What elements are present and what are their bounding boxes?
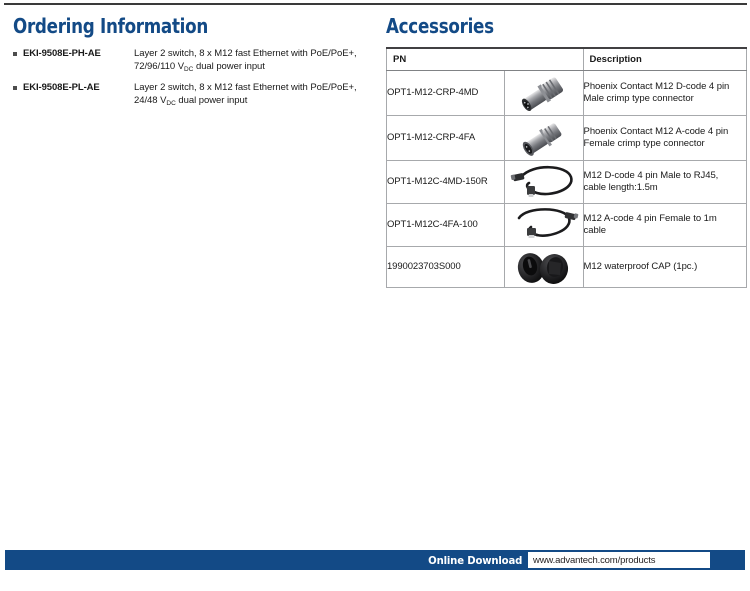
online-download-label: Online Download <box>428 554 522 567</box>
accessories-title: Accessories <box>386 14 723 38</box>
cell-part-number: OPT1-M12C-4MD-150R <box>387 161 505 204</box>
footer-url-box[interactable]: www.advantech.com/products <box>528 552 710 568</box>
ordering-description-line2-pre: 72/96/110 V <box>134 61 184 72</box>
description-line1: M12 D-code 4 pin Male to RJ45, <box>584 170 719 181</box>
footer-url-text[interactable]: www.advantech.com/products <box>533 555 655 566</box>
cell-product-image <box>505 161 583 204</box>
cell-product-image <box>505 247 583 288</box>
m12-female-cable-photo <box>507 204 581 246</box>
column-header-pn: PN <box>387 48 584 71</box>
ordering-description-line1: Layer 2 switch, 8 x M12 fast Ethernet wi… <box>134 82 357 93</box>
cell-product-image <box>505 71 583 116</box>
list-item: EKI-9508E-PH-AE Layer 2 switch, 8 x M12 … <box>13 47 373 74</box>
description-line2: Female crimp type connector <box>584 138 705 149</box>
ordering-information-title: Ordering Information <box>13 14 348 38</box>
m12-to-rj45-cable-photo <box>507 161 581 203</box>
cell-description: Phoenix Contact M12 A-code 4 pinFemale c… <box>583 116 746 161</box>
cell-description: M12 D-code 4 pin Male to RJ45,cable leng… <box>583 161 746 204</box>
table-header-row: PN Description <box>387 48 747 71</box>
list-item: EKI-9508E-PL-AE Layer 2 switch, 8 x M12 … <box>13 81 373 108</box>
table-row: OPT1-M12-CRP-4FA <box>387 116 747 161</box>
table-row: 1990023703S000 <box>387 247 747 288</box>
description-line2: cable length:1.5m <box>584 182 658 193</box>
ordering-description: Layer 2 switch, 8 x M12 fast Ethernet wi… <box>134 81 373 108</box>
description-line2: cable <box>584 225 606 236</box>
cell-description: M12 A-code 4 pin Female to 1mcable <box>583 204 746 247</box>
cell-product-image <box>505 116 583 161</box>
ordering-description-line2-pre: 24/48 V <box>134 95 166 106</box>
footer-bar: Online Download www.advantech.com/produc… <box>5 550 745 570</box>
cell-part-number: OPT1-M12-CRP-4FA <box>387 116 505 161</box>
ordering-list: EKI-9508E-PH-AE Layer 2 switch, 8 x M12 … <box>13 47 373 108</box>
ordering-part-number: EKI-9508E-PH-AE <box>23 47 134 60</box>
ordering-description-line2-post: dual power input <box>193 61 265 72</box>
square-bullet-icon <box>13 52 17 56</box>
cell-description: Phoenix Contact M12 D-code 4 pinMale cri… <box>583 71 746 116</box>
column-header-description: Description <box>583 48 746 71</box>
top-rule-divider <box>4 3 747 5</box>
m12-male-connector-photo <box>509 71 579 115</box>
cell-description: M12 waterproof CAP (1pc.) <box>583 247 746 288</box>
description-line2: Male crimp type connector <box>584 93 694 104</box>
description-line1: M12 waterproof CAP (1pc.) <box>584 261 698 272</box>
cell-product-image <box>505 204 583 247</box>
ordering-part-number: EKI-9508E-PL-AE <box>23 81 134 94</box>
description-line1: M12 A-code 4 pin Female to 1m <box>584 213 717 224</box>
ordering-description-subscript: DC <box>166 100 175 107</box>
ordering-description-line2-post: dual power input <box>176 95 248 106</box>
cell-part-number: 1990023703S000 <box>387 247 505 288</box>
cell-part-number: OPT1-M12C-4FA-100 <box>387 204 505 247</box>
square-bullet-icon <box>13 86 17 90</box>
ordering-description-line1: Layer 2 switch, 8 x M12 fast Ethernet wi… <box>134 48 357 59</box>
ordering-description: Layer 2 switch, 8 x M12 fast Ethernet wi… <box>134 47 373 74</box>
accessories-section: Accessories PN Description OPT1-M12-CRP-… <box>386 14 748 288</box>
accessories-table: PN Description OPT1-M12-CRP-4MD <box>386 47 747 288</box>
table-row: OPT1-M12-CRP-4MD <box>387 71 747 116</box>
m12-female-connector-photo <box>509 116 579 160</box>
table-row: OPT1-M12C-4MD-150R M12 D-code 4 pin Male… <box>387 161 747 204</box>
ordering-information-section: Ordering Information EKI-9508E-PH-AE Lay… <box>13 14 373 115</box>
description-line1: Phoenix Contact M12 D-code 4 pin <box>584 81 730 92</box>
m12-waterproof-cap-photo <box>509 247 579 287</box>
description-line1: Phoenix Contact M12 A-code 4 pin <box>584 126 729 137</box>
datasheet-page: Ordering Information EKI-9508E-PH-AE Lay… <box>0 0 750 591</box>
table-row: OPT1-M12C-4FA-100 M12 A-code 4 pin Femal… <box>387 204 747 247</box>
cell-part-number: OPT1-M12-CRP-4MD <box>387 71 505 116</box>
ordering-description-subscript: DC <box>184 66 193 73</box>
